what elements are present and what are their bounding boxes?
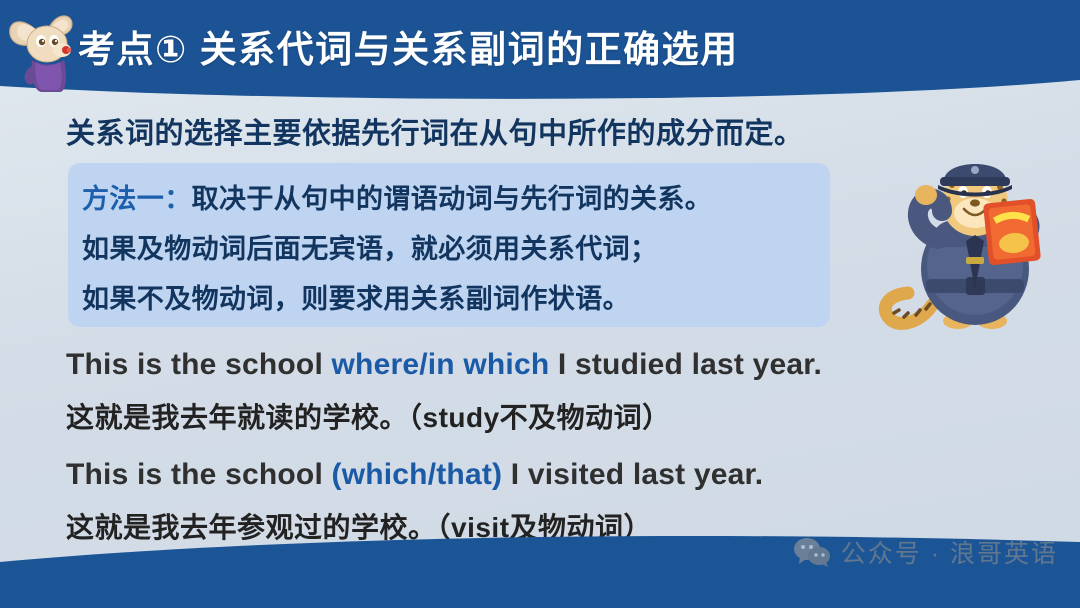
method-text: 如果及物动词后面无宾语，就必须用关系代词； (82, 234, 657, 264)
example-sentence-english: This is the school (which/that) I visite… (66, 458, 763, 492)
method-text: 取决于从句中的谓语动词与先行词的关系。 (192, 184, 713, 214)
fennec-fox-character-icon (2, 0, 88, 92)
example-translation-chinese: 这就是我去年就读的学校。（study不及物动词） (66, 396, 671, 436)
method-line: 方法一：取决于从句中的谓语动词与先行词的关系。 (82, 174, 830, 224)
slide-canvas: 考点① 关系代词与关系副词的正确选用 关系词的选择主要依据先行词在从句中所作的成… (0, 0, 1080, 608)
watermark: 公众号 · 浪哥英语 (792, 534, 1058, 570)
method-line: 如果及物动词后面无宾语，就必须用关系代词； (82, 224, 830, 274)
header-banner: 考点① 关系代词与关系副词的正确选用 (0, 0, 1080, 104)
method-line: 如果不及物动词，则要求用关系副词作状语。 (82, 274, 830, 324)
method-callout-box: 方法一：取决于从句中的谓语动词与先行词的关系。 如果及物动词后面无宾语，就必须用… (68, 163, 830, 327)
wechat-icon (792, 537, 832, 567)
lead-statement: 关系词的选择主要依据先行词在从句中所作的成分而定。 (66, 110, 804, 152)
cheetah-police-officer-character-icon (874, 143, 1070, 339)
sentence-part: I visited last year. (502, 458, 763, 491)
sentence-part: This is the school (66, 458, 332, 491)
page-title: 考点① 关系代词与关系副词的正确选用 (78, 19, 739, 73)
relative-word-highlight: where/in which (332, 348, 550, 381)
method-label: 方法一： (82, 184, 192, 214)
sentence-part: This is the school (66, 348, 332, 381)
example-sentence-english: This is the school where/in which I stud… (66, 348, 822, 382)
watermark-text: 公众号 · 浪哥英语 (841, 534, 1058, 570)
relative-word-highlight: (which/that) (332, 458, 503, 491)
method-text: 如果不及物动词，则要求用关系副词作状语。 (82, 284, 630, 314)
sentence-part: I studied last year. (549, 348, 822, 381)
